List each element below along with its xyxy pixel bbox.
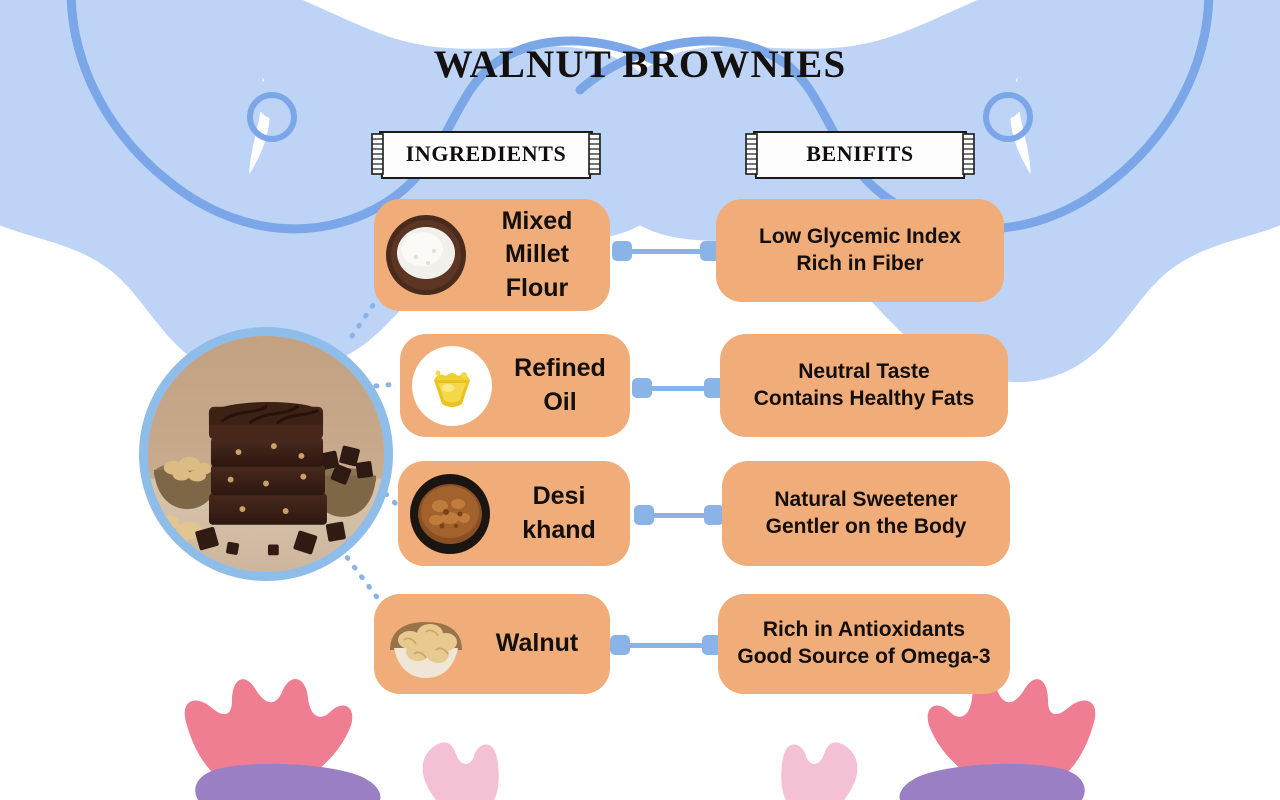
page-title: WALNUT BROWNIES <box>0 42 1280 87</box>
connector-row-4 <box>610 634 722 656</box>
benefit-card-1[interactable]: Low Glycemic IndexRich in Fiber <box>716 199 1004 302</box>
refined-oil-bowl-icon <box>408 342 496 430</box>
pink-lotus-left <box>185 679 353 792</box>
ingredient-card-2[interactable]: RefinedOil <box>400 334 630 437</box>
connector-node-left-3 <box>634 505 654 525</box>
circle-outline-right <box>986 95 1030 139</box>
connector-row-1 <box>612 240 720 262</box>
banner-label-ingredients: INGREDIENTS <box>368 128 604 182</box>
benefit-text-4: Rich in AntioxidantsGood Source of Omega… <box>725 617 1002 671</box>
benefit-text-3: Natural SweetenerGentler on the Body <box>754 487 979 541</box>
benefit-card-3[interactable]: Natural SweetenerGentler on the Body <box>722 461 1010 566</box>
purple-base-right <box>900 764 1085 800</box>
brownie-stack-illustration <box>148 336 384 572</box>
connector-node-left-1 <box>612 241 632 261</box>
walnut-bowl-icon <box>382 600 470 688</box>
flower-group-bottom-right <box>781 679 1095 800</box>
circle-outline-left <box>250 95 294 139</box>
connector-row-3 <box>634 504 724 526</box>
flower-group-bottom-left <box>185 679 499 800</box>
banner-benefits: BENIFITS <box>742 128 978 182</box>
blue-wave-line-left <box>71 0 700 229</box>
banner-label-benefits: BENIFITS <box>742 128 978 182</box>
connector-node-right-3 <box>704 505 724 525</box>
benefit-text-1: Low Glycemic IndexRich in Fiber <box>747 224 973 278</box>
benefit-card-2[interactable]: Neutral TasteContains Healthy Fats <box>720 334 1008 437</box>
purple-base-left <box>195 764 380 800</box>
ingredient-card-4[interactable]: Walnut <box>374 594 610 694</box>
pink-lotus-right <box>928 679 1096 792</box>
ingredient-card-1[interactable]: MixedMilletFlour <box>374 199 610 311</box>
pink-petal-left <box>423 742 499 800</box>
connector-bar-4 <box>630 643 702 648</box>
millet-flour-bowl-icon <box>382 211 470 299</box>
connector-node-left-4 <box>610 635 630 655</box>
desi-khand-bowl-icon <box>406 470 494 558</box>
connector-bar-2 <box>652 386 704 391</box>
pink-petal-right <box>781 742 857 800</box>
benefit-text-2: Neutral TasteContains Healthy Fats <box>742 359 987 413</box>
banner-ingredients: INGREDIENTS <box>368 128 604 182</box>
ingredient-name-4: Walnut <box>470 627 610 660</box>
connector-bar-1 <box>632 249 700 254</box>
connector-bar-3 <box>654 513 704 518</box>
hero-brownie-image <box>139 327 393 581</box>
connector-row-2 <box>632 377 724 399</box>
ingredient-name-2: RefinedOil <box>496 352 630 419</box>
ingredient-card-3[interactable]: Desikhand <box>398 461 630 566</box>
blue-wave-line-right <box>580 0 1209 229</box>
ingredient-name-1: MixedMilletFlour <box>470 205 610 305</box>
ingredient-name-3: Desikhand <box>494 480 630 547</box>
benefit-card-4[interactable]: Rich in AntioxidantsGood Source of Omega… <box>718 594 1010 694</box>
connector-node-left-2 <box>632 378 652 398</box>
